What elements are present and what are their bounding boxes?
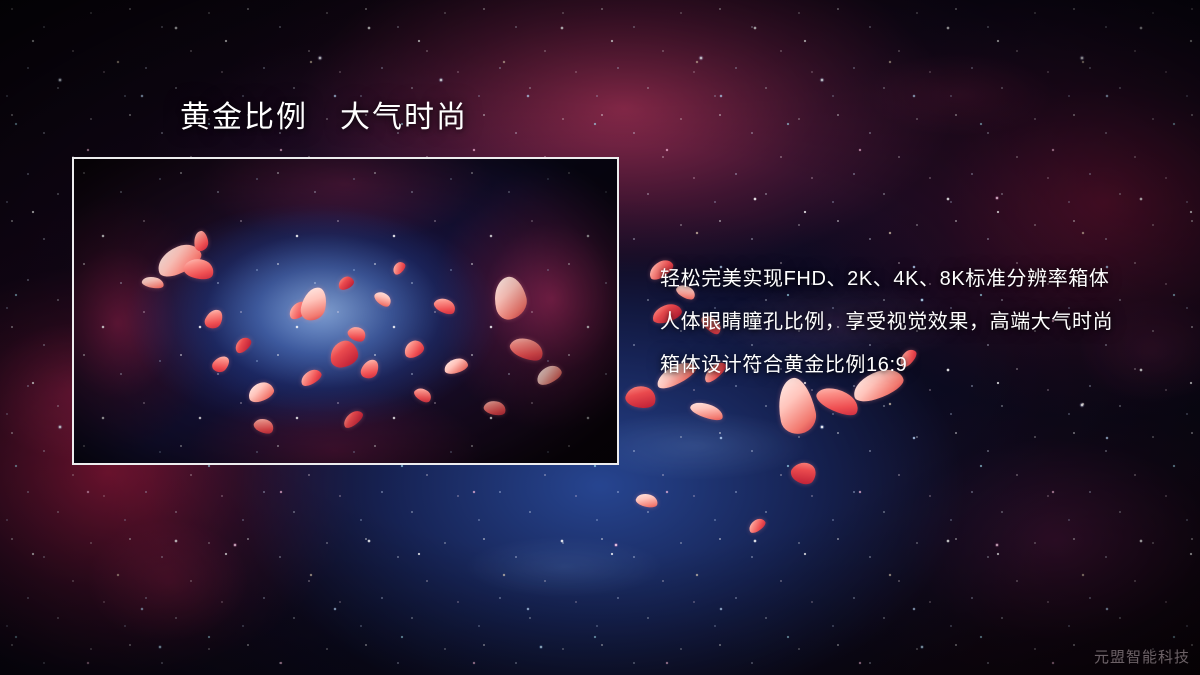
body-line-3: 箱体设计符合黄金比例16:9 [660,344,1160,387]
petal-shape [788,457,820,489]
page-title: 黄金比例 大气时尚 [180,101,468,136]
petal-shape [635,491,660,510]
petal-shape [689,398,726,424]
watermark: 元盟智能科技 [1094,646,1190,667]
presentation-slide: 黄金比例 大气时尚 轻松完美实现FHD、2K、4K、8K标准分辨率箱体 人体眼睛… [0,0,1200,675]
body-line-2: 人体眼睛瞳孔比例，享受视觉效果，高端大气时尚 [660,301,1160,344]
picture-inner-content [74,159,617,463]
body-line-1: 轻松完美实现FHD、2K、4K、8K标准分辨率箱体 [660,258,1160,301]
body-text-block: 轻松完美实现FHD、2K、4K、8K标准分辨率箱体 人体眼睛瞳孔比例，享受视觉效… [660,258,1160,387]
picture-vignette [74,159,617,463]
petal-shape [624,382,659,411]
petal-shape [746,516,767,535]
framed-image[interactable] [72,157,619,465]
